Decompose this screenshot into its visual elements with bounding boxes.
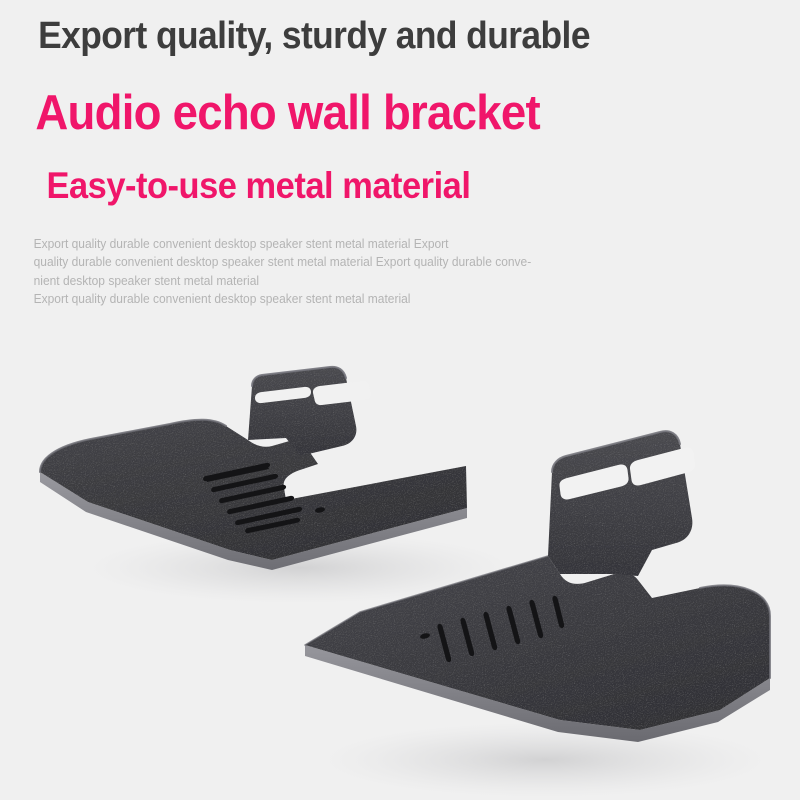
body-line: Export quality durable convenient deskto… [34, 290, 768, 309]
body-paragraph: Export quality durable convenient deskto… [0, 208, 768, 309]
headline-primary: Export quality, sturdy and durable [0, 14, 744, 59]
body-line: nient desktop speaker stent metal materi… [34, 272, 768, 291]
copy-block: Export quality, sturdy and durable Audio… [0, 0, 800, 309]
headline-feature: Easy-to-use metal material [0, 141, 744, 208]
bracket-lower-shadow [320, 722, 770, 798]
headline-product-title: Audio echo wall bracket [0, 59, 744, 141]
product-banner: Export quality, sturdy and durable Audio… [0, 0, 800, 800]
bracket-upper-flange [248, 367, 356, 456]
body-line: Export quality durable convenient deskto… [34, 235, 768, 254]
product-image-stage [0, 360, 800, 800]
body-line: quality durable convenient desktop speak… [34, 253, 768, 272]
product-illustration [0, 360, 800, 800]
